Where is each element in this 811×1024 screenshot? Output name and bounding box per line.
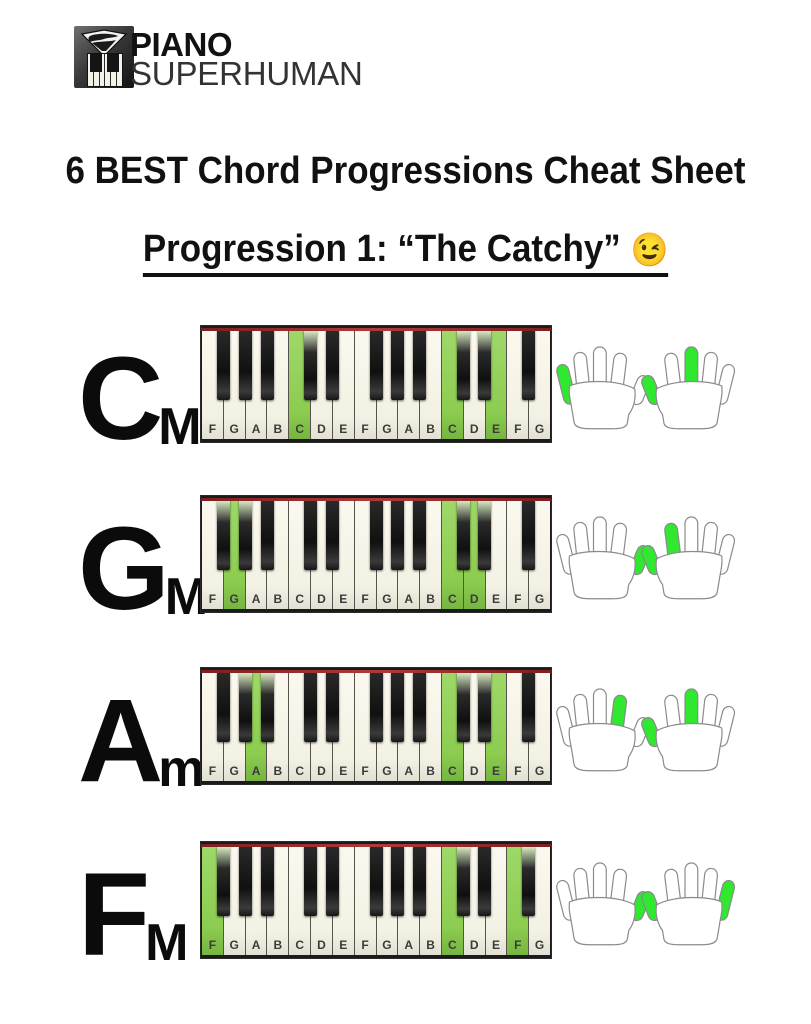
white-key-label: A — [404, 592, 413, 606]
white-key-label: C — [295, 764, 304, 778]
white-key-label: G — [535, 592, 544, 606]
black-key-after-G-1[interactable] — [239, 672, 252, 742]
white-key-label: E — [339, 422, 347, 436]
page-title: 6 BEST Chord Progressions Cheat Sheet — [32, 150, 778, 193]
right-hand-palm — [656, 382, 722, 429]
black-key-after-F-0[interactable] — [217, 846, 230, 916]
keyboard-felt-strip — [201, 498, 551, 501]
chord-row-fM: FMFGABCDEFGABCDEFG — [0, 836, 811, 986]
left-hand-palm — [569, 898, 635, 945]
left-hand — [556, 517, 652, 599]
black-key-after-F-7[interactable] — [370, 846, 383, 916]
right-hand — [640, 863, 736, 945]
white-key-label: G — [230, 592, 239, 606]
subtitle-text: Progression 1: “The Catchy” — [143, 228, 621, 270]
black-key-after-G-1[interactable] — [239, 846, 252, 916]
left-hand-palm — [569, 724, 635, 771]
black-key-after-D-12[interactable] — [478, 672, 491, 742]
black-key-after-F-0[interactable] — [217, 500, 230, 570]
keyboard-felt-strip — [201, 328, 551, 331]
white-key-label: B — [274, 592, 283, 606]
white-key-label: A — [404, 938, 413, 952]
white-key-label: G — [230, 764, 239, 778]
white-key-label: B — [274, 938, 283, 952]
white-key-label: F — [209, 764, 216, 778]
black-key-after-F-14[interactable] — [522, 672, 535, 742]
chord-label: CM — [78, 320, 196, 450]
white-key-label: F — [361, 422, 368, 436]
white-key-label: E — [339, 938, 347, 952]
black-keys — [202, 330, 550, 400]
chord-label: Am — [78, 662, 196, 792]
black-key-after-G-1[interactable] — [239, 330, 252, 400]
chord-root-letter: C — [78, 349, 160, 450]
black-key-after-D-5[interactable] — [326, 500, 339, 570]
white-key-label: E — [492, 422, 500, 436]
white-key-label: A — [252, 422, 261, 436]
chord-row-cM: CMFGABCDEFGABCDEFG — [0, 320, 811, 470]
winking-face-emoji: 😉 — [630, 231, 668, 268]
white-key-label: G — [382, 422, 391, 436]
black-key-after-F-14[interactable] — [522, 846, 535, 916]
subtitle-container: Progression 1: “The Catchy” 😉 — [0, 228, 811, 277]
white-key-label: E — [492, 592, 500, 606]
white-key-label: G — [230, 938, 239, 952]
chord-quality-letter: M — [158, 405, 201, 450]
black-key-after-G-8[interactable] — [391, 846, 404, 916]
white-key-label: A — [404, 422, 413, 436]
black-key-after-C-11[interactable] — [457, 846, 470, 916]
hand-diagram — [556, 496, 736, 616]
black-key-after-G-1[interactable] — [239, 500, 252, 570]
black-key-after-A-9[interactable] — [413, 672, 426, 742]
chord-label: FM — [78, 836, 196, 966]
black-key-after-A-2[interactable] — [261, 330, 274, 400]
black-key-after-D-12[interactable] — [478, 846, 491, 916]
piano-keyboard[interactable]: FGABCDEFGABCDEFG — [200, 667, 552, 785]
white-key-label: F — [514, 764, 521, 778]
black-key-after-G-8[interactable] — [391, 330, 404, 400]
black-key-after-F-7[interactable] — [370, 500, 383, 570]
black-key-after-G-8[interactable] — [391, 500, 404, 570]
keyboard-felt-strip — [201, 844, 551, 847]
white-key-label: D — [470, 764, 479, 778]
white-key-label: F — [209, 592, 216, 606]
white-key-label: F — [514, 938, 521, 952]
white-key-label: G — [535, 938, 544, 952]
black-key-after-C-4[interactable] — [304, 500, 317, 570]
black-keys — [202, 672, 550, 742]
white-key-label: D — [470, 938, 479, 952]
left-hand — [556, 863, 652, 945]
chord-root-letter: G — [78, 519, 167, 620]
white-key-label: B — [426, 764, 435, 778]
white-key-label: D — [470, 422, 479, 436]
keyboard-felt-strip — [201, 670, 551, 673]
black-key-after-A-2[interactable] — [261, 672, 274, 742]
white-key-label: G — [382, 938, 391, 952]
chord-row-am: AmFGABCDEFGABCDEFG — [0, 662, 811, 812]
white-key-label: D — [470, 592, 479, 606]
piano-keyboard[interactable]: FGABCDEFGABCDEFG — [200, 325, 552, 443]
white-key-label: D — [317, 938, 326, 952]
white-key-label: C — [295, 422, 304, 436]
right-hand — [640, 689, 736, 771]
white-key-label: F — [514, 422, 521, 436]
left-hand-palm — [569, 552, 635, 599]
right-hand-palm — [656, 552, 722, 599]
piano-keyboard[interactable]: FGABCDEFGABCDEFG — [200, 495, 552, 613]
white-key-label: A — [252, 764, 261, 778]
chord-row-gM: GMFGABCDEFGABCDEFG — [0, 490, 811, 640]
white-key-label: A — [252, 938, 261, 952]
brand-logo: PIANO SUPERHUMAN — [74, 26, 394, 92]
right-hand-palm — [656, 724, 722, 771]
black-key-after-D-12[interactable] — [478, 330, 491, 400]
white-key-label: C — [448, 938, 457, 952]
black-key-after-D-12[interactable] — [478, 500, 491, 570]
shield-icon — [80, 29, 128, 55]
progression-subtitle: Progression 1: “The Catchy” 😉 — [143, 228, 668, 277]
black-key-after-C-11[interactable] — [457, 500, 470, 570]
white-key-label: G — [230, 422, 239, 436]
left-hand — [556, 689, 652, 771]
white-key-label: E — [492, 938, 500, 952]
black-key-after-D-5[interactable] — [326, 330, 339, 400]
black-key-after-C-11[interactable] — [457, 330, 470, 400]
black-key-after-F-0[interactable] — [217, 330, 230, 400]
white-key-label: F — [209, 938, 216, 952]
white-key-label: C — [448, 592, 457, 606]
right-hand-palm — [656, 898, 722, 945]
chord-quality-letter: m — [158, 747, 204, 792]
black-key-after-A-9[interactable] — [413, 846, 426, 916]
piano-keys-icon — [87, 53, 123, 87]
hand-diagram — [556, 326, 736, 446]
white-key-label: F — [514, 592, 521, 606]
black-key-after-D-5[interactable] — [326, 672, 339, 742]
black-key-after-A-2[interactable] — [261, 500, 274, 570]
black-key-after-C-4[interactable] — [304, 672, 317, 742]
black-key-after-A-9[interactable] — [413, 500, 426, 570]
white-key-label: A — [252, 592, 261, 606]
white-key-label: G — [382, 764, 391, 778]
piano-keyboard[interactable]: FGABCDEFGABCDEFG — [200, 841, 552, 959]
white-key-label: C — [295, 938, 304, 952]
white-key-label: A — [404, 764, 413, 778]
white-key-label: D — [317, 764, 326, 778]
right-hand — [640, 347, 736, 429]
white-key-label: C — [295, 592, 304, 606]
white-key-label: B — [426, 592, 435, 606]
black-key-after-A-2[interactable] — [261, 846, 274, 916]
black-key-after-F-7[interactable] — [370, 330, 383, 400]
black-keys — [202, 846, 550, 916]
black-key-after-F-7[interactable] — [370, 672, 383, 742]
black-key-after-F-14[interactable] — [522, 330, 535, 400]
black-key-after-C-11[interactable] — [457, 672, 470, 742]
white-key-label: B — [274, 764, 283, 778]
right-hand — [640, 517, 736, 599]
chord-root-letter: A — [78, 691, 160, 792]
white-key-label: G — [535, 764, 544, 778]
black-key-after-D-5[interactable] — [326, 846, 339, 916]
white-key-label: C — [448, 764, 457, 778]
hand-diagram — [556, 668, 736, 788]
left-hand — [556, 347, 652, 429]
white-key-label: G — [382, 592, 391, 606]
white-key-label: B — [426, 422, 435, 436]
white-key-label: F — [361, 592, 368, 606]
black-key-after-A-9[interactable] — [413, 330, 426, 400]
white-key-label: E — [339, 592, 347, 606]
hand-diagram — [556, 842, 736, 962]
white-key-label: B — [426, 938, 435, 952]
white-key-label: F — [209, 422, 216, 436]
white-key-label: D — [317, 422, 326, 436]
black-keys — [202, 500, 550, 570]
black-key-after-F-0[interactable] — [217, 672, 230, 742]
white-key-label: C — [448, 422, 457, 436]
black-key-after-F-14[interactable] — [522, 500, 535, 570]
black-key-after-C-4[interactable] — [304, 846, 317, 916]
white-key-label: E — [492, 764, 500, 778]
black-key-after-G-8[interactable] — [391, 672, 404, 742]
left-hand-palm — [569, 382, 635, 429]
chord-quality-letter: M — [145, 921, 188, 966]
white-key-label: F — [361, 938, 368, 952]
chord-root-letter: F — [78, 865, 147, 966]
brand-line-2: SUPERHUMAN — [130, 57, 363, 90]
superman-shield-piano-icon — [74, 26, 134, 88]
white-key-label: D — [317, 592, 326, 606]
white-key-label: F — [361, 764, 368, 778]
white-key-label: G — [535, 422, 544, 436]
black-key-after-C-4[interactable] — [304, 330, 317, 400]
white-key-label: B — [274, 422, 283, 436]
white-key-label: E — [339, 764, 347, 778]
chord-label: GM — [78, 490, 196, 620]
